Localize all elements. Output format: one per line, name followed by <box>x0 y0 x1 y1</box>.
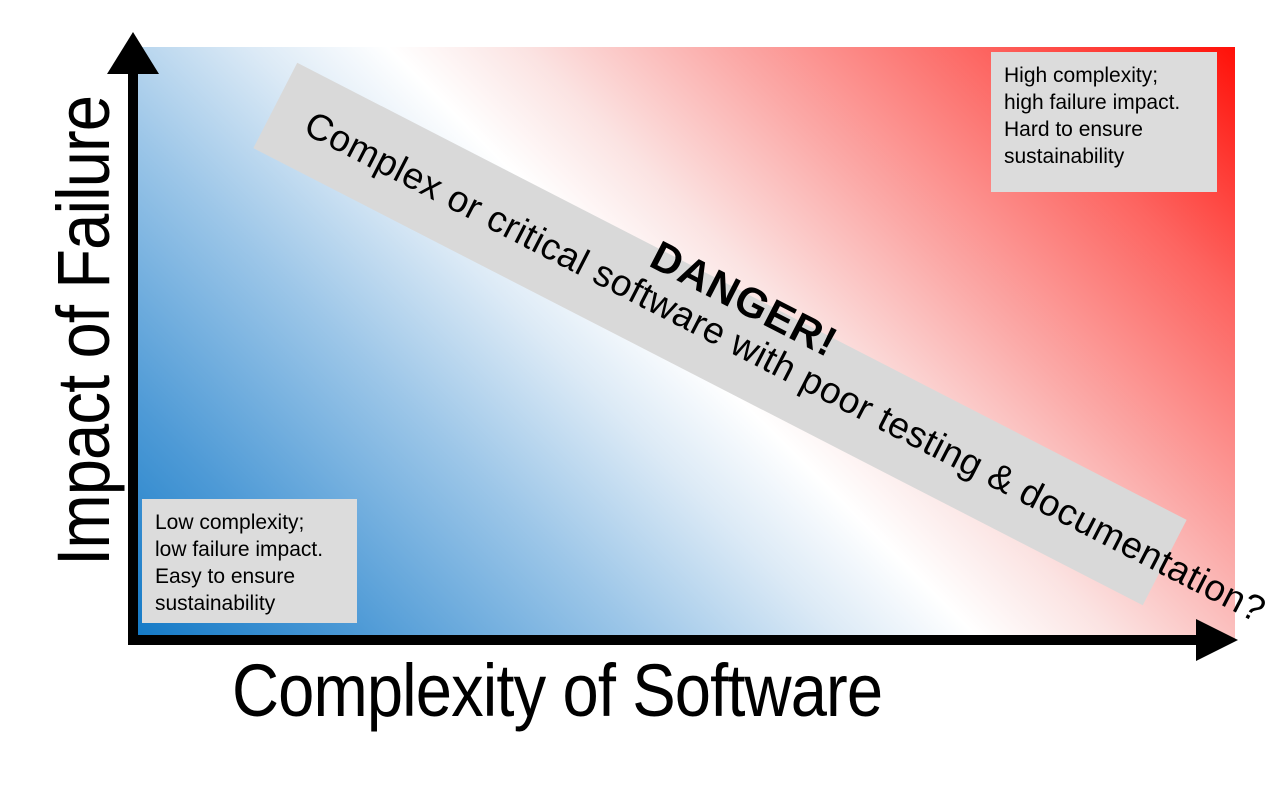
x-axis-line <box>128 635 1213 645</box>
arrow-right-icon <box>1196 619 1238 661</box>
y-axis-line <box>128 60 138 645</box>
x-axis-title: Complexity of Software <box>232 652 882 730</box>
callout-high-risk: High complexity; high failure impact. Ha… <box>991 52 1217 192</box>
y-axis-title: Impact of Failure <box>45 58 123 604</box>
risk-quadrant-diagram: Impact of Failure Complexity of Software… <box>0 0 1275 786</box>
callout-low-risk: Low complexity; low failure impact. Easy… <box>142 499 357 623</box>
